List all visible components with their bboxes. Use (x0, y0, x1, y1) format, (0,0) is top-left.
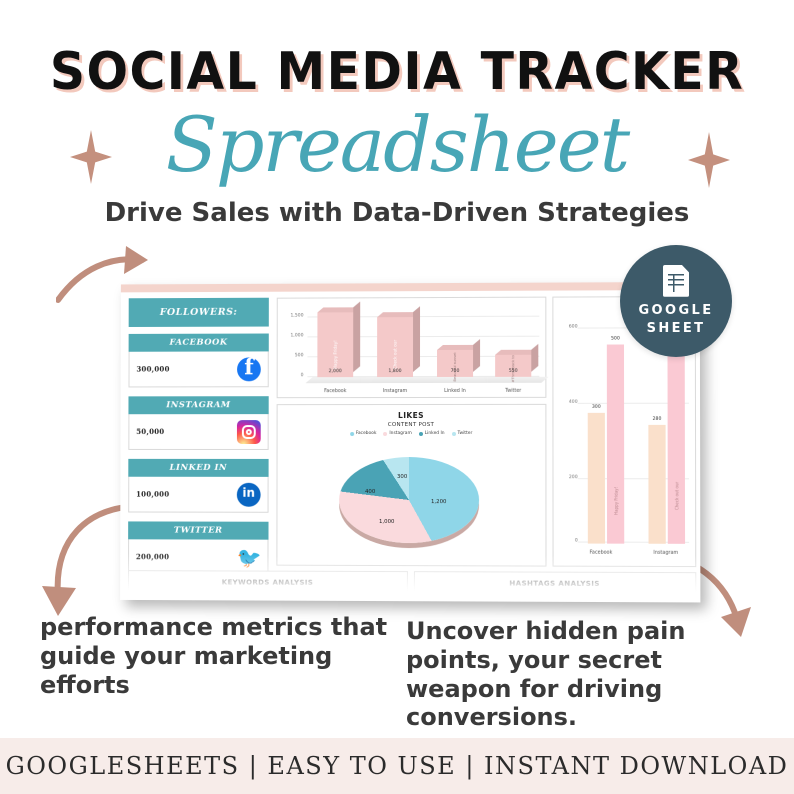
y-tick-label: 500 (280, 353, 304, 358)
bar-twitter: #Throwback to 550 (495, 355, 531, 377)
y-tick-label: 1,500 (280, 314, 304, 319)
y-tick-label: 400 (553, 400, 577, 405)
legend-item: Linked In (419, 431, 445, 436)
badge-line-2: SHEET (647, 321, 706, 337)
pie-value-linkedin: 400 (365, 489, 375, 495)
bar-value: 700 (437, 369, 473, 374)
facebook-label: FACEBOOK (129, 334, 269, 352)
x-tick-label: Instagram (373, 389, 417, 394)
followers-sidebar: FOLLOWERS: FACEBOOK 300,000 INSTAGRAM 50… (128, 298, 269, 585)
reach-3d-bar-chart[interactable]: 1,500 1,000 500 0 Happy Friday! 2,000 Ch… (277, 297, 547, 399)
footer-banner: GOOGLESHEETS | EASY TO USE | INSTANT DOW… (0, 738, 794, 794)
y-tick-label: 0 (554, 538, 578, 543)
pie-graphic: 1,200 1,000 400 300 (339, 457, 479, 549)
legend-item: Instagram (383, 431, 411, 436)
bar-caption: Check out our (674, 482, 679, 510)
bar-facebook-engagement: 300 (588, 413, 605, 544)
x-tick-label: Twitter (491, 389, 535, 394)
x-tick-label: Facebook (313, 389, 357, 394)
instagram-label: INSTAGRAM (128, 396, 268, 414)
y-tick-label: 0 (280, 373, 304, 378)
badge-line-1: GOOGLE (638, 303, 713, 319)
linkedin-followers-value: 100,000 (136, 490, 169, 499)
sheet-top-accent-bar (121, 282, 700, 292)
sidebar-item-instagram[interactable]: INSTAGRAM 50,000 (128, 396, 268, 450)
bar-caption: Happy Friday! (333, 340, 338, 369)
sidebar-item-facebook[interactable]: FACEBOOK 300,000 (129, 334, 269, 388)
bar-value: 2,000 (317, 369, 353, 374)
sheet-fade-overlay (120, 554, 700, 602)
y-tick-label: 1,000 (280, 333, 304, 338)
pie-title: LIKES (278, 405, 546, 420)
x-tick-label: Linked In (433, 389, 477, 394)
legend-item: Twitter (452, 431, 473, 436)
instagram-icon (237, 420, 261, 444)
sidebar-item-linkedin[interactable]: LINKED IN 100,000 (128, 459, 268, 513)
pie-value-twitter: 300 (397, 474, 407, 480)
pie-value-instagram: 1,000 (379, 519, 394, 525)
table-row: 50,000 (128, 414, 268, 450)
pie-legend: Facebook Instagram Linked In Twitter (278, 431, 546, 436)
bar-instagram-reach: Check out our (667, 337, 685, 544)
bar-instagram: Check out our 1,800 (377, 317, 413, 377)
table-row: 100,000 (128, 477, 268, 513)
footer-text: GOOGLESHEETS | EASY TO USE | INSTANT DOW… (6, 752, 789, 780)
bar-value: 1,800 (377, 369, 413, 374)
y-tick-label: 600 (553, 325, 577, 330)
bar-value: 500 (607, 336, 624, 341)
twitter-label: TWITTER (128, 521, 268, 539)
bar-value: 550 (495, 369, 531, 374)
poster-canvas: SOCIAL MEDIA TRACKER Spreadsheet Drive S… (0, 0, 794, 794)
facebook-icon (237, 357, 261, 381)
google-sheet-badge[interactable]: GOOGLE SHEET (620, 245, 732, 357)
legend-label: Instagram (389, 431, 411, 436)
tagline: Drive Sales with Data-Driven Strategies (0, 198, 794, 228)
bar-value: 300 (588, 405, 605, 410)
bar-facebook: Happy Friday! 2,000 (317, 312, 353, 377)
page-title: SOCIAL MEDIA TRACKER (24, 42, 770, 102)
y-tick-label: 200 (553, 475, 577, 480)
instagram-followers-value: 50,000 (136, 427, 164, 436)
legend-item: Facebook (350, 431, 377, 436)
pie-subtitle: CONTENT POST (278, 422, 546, 428)
table-row: 300,000 (129, 351, 269, 387)
bar-caption: Check out our (393, 340, 398, 369)
facebook-followers-value: 300,000 (136, 365, 169, 374)
bar-caption: Beautiful sunset (453, 352, 457, 381)
linkedin-icon (237, 482, 261, 506)
legend-label: Twitter (458, 431, 473, 436)
spreadsheet-preview[interactable]: FOLLOWERS: FACEBOOK 300,000 INSTAGRAM 50… (120, 282, 700, 603)
bar-instagram-engagement: 280 (648, 425, 665, 544)
legend-label: Facebook (356, 431, 377, 436)
bar-linkedin: Beautiful sunset 700 (437, 350, 473, 377)
bar-facebook-reach: 500 Happy Friday! (607, 345, 624, 544)
legend-label: Linked In (425, 431, 445, 436)
bar-value: 280 (648, 417, 665, 422)
script-subtitle: Spreadsheet (0, 100, 794, 189)
followers-header: FOLLOWERS: (129, 298, 269, 327)
google-sheets-file-icon (663, 265, 689, 297)
pie-value-facebook: 1,200 (431, 499, 446, 505)
pie-circle (339, 457, 479, 543)
left-description-text: performance metrics that guide your mark… (40, 613, 390, 699)
right-description-text: Uncover hidden pain points, your secret … (406, 617, 706, 732)
likes-content-post-pie[interactable]: LIKES CONTENT POST Facebook Instagram Li… (276, 404, 546, 567)
bar-caption: Happy Friday! (613, 487, 618, 515)
linkedin-label: LINKED IN (128, 459, 268, 477)
